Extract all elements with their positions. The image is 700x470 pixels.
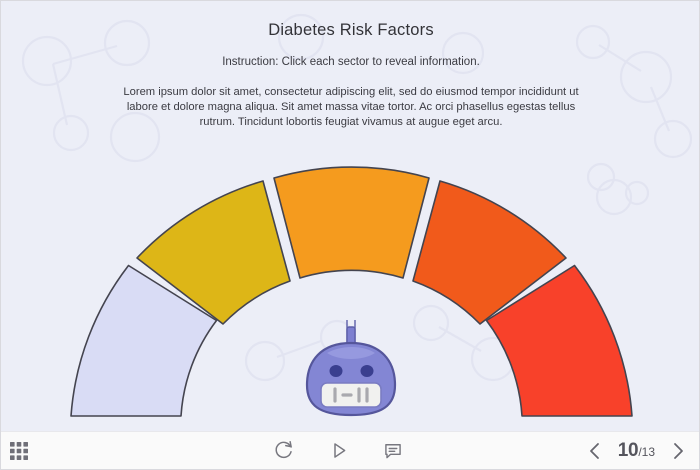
bottom-toolbar: 10 /13 bbox=[1, 431, 699, 469]
robot-mascot bbox=[297, 317, 405, 421]
page-current: 10 bbox=[618, 440, 639, 462]
page-title: Diabetes Risk Factors bbox=[1, 21, 700, 40]
grid-menu-icon[interactable] bbox=[9, 441, 29, 461]
page-indicator: 10 /13 bbox=[618, 440, 655, 462]
notes-icon[interactable] bbox=[383, 441, 403, 461]
slide-canvas: Diabetes Risk Factors Instruction: Click… bbox=[0, 0, 700, 470]
play-icon[interactable] bbox=[328, 440, 349, 461]
slide-content: Diabetes Risk Factors Instruction: Click… bbox=[1, 1, 700, 433]
fan-sector-3[interactable] bbox=[274, 167, 429, 278]
toolbar-left-group bbox=[1, 441, 159, 461]
instruction-text: Instruction: Click each sector to reveal… bbox=[1, 56, 700, 68]
toolbar-right-group: 10 /13 bbox=[517, 440, 699, 462]
page-total: /13 bbox=[638, 445, 655, 459]
robot-eye-right bbox=[361, 365, 374, 377]
replay-icon[interactable] bbox=[273, 440, 294, 461]
next-chevron-icon[interactable] bbox=[669, 441, 687, 461]
robot-eye-left bbox=[330, 365, 343, 377]
prev-chevron-icon[interactable] bbox=[586, 441, 604, 461]
toolbar-center-group bbox=[159, 440, 517, 461]
